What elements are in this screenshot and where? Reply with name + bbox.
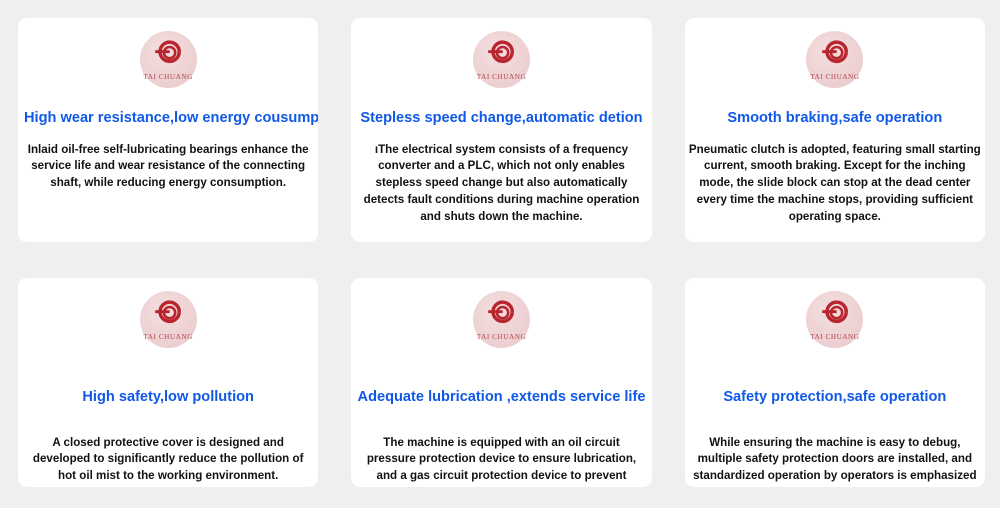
card-title: High safety,low pollution [20, 389, 316, 407]
ring-mark-icon [140, 35, 197, 69]
feature-card-high-wear-resistance[interactable]: TAI CHUANG High wear resistance,low ener… [18, 18, 318, 242]
tai-chuang-logo: TAI CHUANG [473, 291, 530, 348]
logo-brand-text: TAI CHUANG [806, 334, 863, 341]
card-body: Pneumatic clutch is adopted, featuring s… [687, 142, 983, 226]
feature-card-high-safety[interactable]: TAI CHUANG High safety,low pollution A c… [18, 278, 318, 487]
card-title: Safety protection,safe operation [687, 389, 983, 407]
logo-brand-text: TAI CHUANG [473, 334, 530, 341]
tai-chuang-logo: TAI CHUANG [140, 31, 197, 88]
card-title: Smooth braking,safe operation [687, 110, 983, 128]
logo-brand-text: TAI CHUANG [140, 334, 197, 341]
feature-card-safety-protection[interactable]: TAI CHUANG Safety protection,safe operat… [685, 278, 985, 487]
ring-mark-icon [140, 295, 197, 329]
card-title: High wear resistance,low energy cousumpt… [20, 110, 316, 128]
logo-brand-text: TAI CHUANG [806, 74, 863, 81]
card-title: Stepless speed change,automatic detion [353, 110, 649, 128]
logo-brand-text: TAI CHUANG [140, 74, 197, 81]
tai-chuang-logo: TAI CHUANG [806, 291, 863, 348]
ring-mark-icon [806, 295, 863, 329]
tai-chuang-logo: TAI CHUANG [806, 31, 863, 88]
card-body: ıThe electrical system consists of a fre… [353, 142, 649, 226]
ring-mark-icon [473, 35, 530, 69]
tai-chuang-logo: TAI CHUANG [140, 291, 197, 348]
feature-card-stepless-speed-change[interactable]: TAI CHUANG Stepless speed change,automat… [351, 18, 651, 242]
card-body: While ensuring the machine is easy to de… [687, 435, 983, 488]
logo-brand-text: TAI CHUANG [473, 74, 530, 81]
card-body: Inlaid oil-free self-lubricating bearing… [20, 142, 316, 192]
ring-mark-icon [806, 35, 863, 69]
ring-mark-icon [473, 295, 530, 329]
feature-card-smooth-braking[interactable]: TAI CHUANG Smooth braking,safe operation… [685, 18, 985, 242]
card-title: Adequate lubrication ,extends service li… [353, 389, 649, 407]
card-body: The machine is equipped with an oil circ… [353, 435, 649, 488]
tai-chuang-logo: TAI CHUANG [473, 31, 530, 88]
card-body: A closed protective cover is designed an… [20, 435, 316, 485]
feature-card-adequate-lubrication[interactable]: TAI CHUANG Adequate lubrication ,extends… [351, 278, 651, 487]
feature-card-grid: TAI CHUANG High wear resistance,low ener… [0, 0, 1000, 508]
